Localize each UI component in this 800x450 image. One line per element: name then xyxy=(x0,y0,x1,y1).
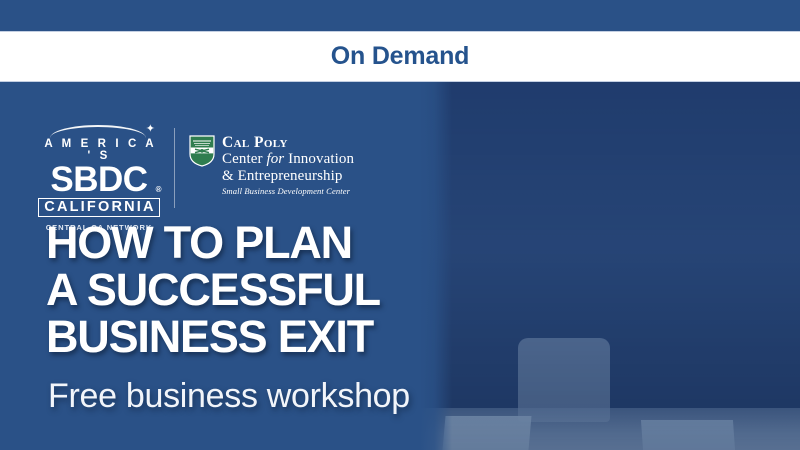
cal-poly-line2: & Entrepreneurship xyxy=(222,168,354,185)
sbdc-state-label: CALIFORNIA xyxy=(38,198,160,217)
headline-line-3: BUSINESS EXIT xyxy=(46,313,380,360)
cal-poly-logo: Cal Poly Center for Innovation & Entrepr… xyxy=(189,125,354,197)
sbdc-logo: ✦ A M E R I C A ' S SBDC® CALIFORNIA CEN… xyxy=(38,125,160,232)
cp-for-word: for xyxy=(266,151,284,167)
cp-innovation-word: Innovation xyxy=(284,151,354,167)
blue-duotone-overlay xyxy=(410,82,800,450)
headline-line-2: A SUCCESSFUL xyxy=(46,266,380,313)
cal-poly-name: Cal Poly xyxy=(222,135,354,151)
cp-center-word: Center xyxy=(222,151,266,167)
registered-trademark-icon: ® xyxy=(156,186,161,194)
promo-banner: On Demand ✦ A M E R I C A ' S SBDC® CALI… xyxy=(0,0,800,450)
panel-gradient-fade xyxy=(420,82,452,450)
headline: HOW TO PLAN A SUCCESSFUL BUSINESS EXIT xyxy=(46,219,380,360)
cal-poly-line1: Center for Innovation xyxy=(222,151,354,168)
on-demand-label: On Demand xyxy=(0,36,800,76)
sbdc-acronym-text: SBDC xyxy=(50,160,147,199)
star-icon: ✦ xyxy=(146,124,155,135)
sbdc-americas-text: A M E R I C A ' S xyxy=(38,138,160,162)
logo-divider xyxy=(174,128,175,208)
cal-poly-shield-icon xyxy=(189,135,215,167)
celebration-photo xyxy=(410,82,800,450)
swoosh-arc-icon xyxy=(50,125,146,138)
top-blue-band xyxy=(0,0,800,31)
cal-poly-wordmark: Cal Poly Center for Innovation & Entrepr… xyxy=(222,135,354,197)
subheadline: Free business workshop xyxy=(48,375,410,417)
cal-poly-sbdc-subtitle: Small Business Development Center xyxy=(222,185,354,197)
headline-line-1: HOW TO PLAN xyxy=(46,219,380,266)
logo-lockup: ✦ A M E R I C A ' S SBDC® CALIFORNIA CEN… xyxy=(38,125,354,232)
sbdc-acronym: SBDC® xyxy=(38,163,160,196)
